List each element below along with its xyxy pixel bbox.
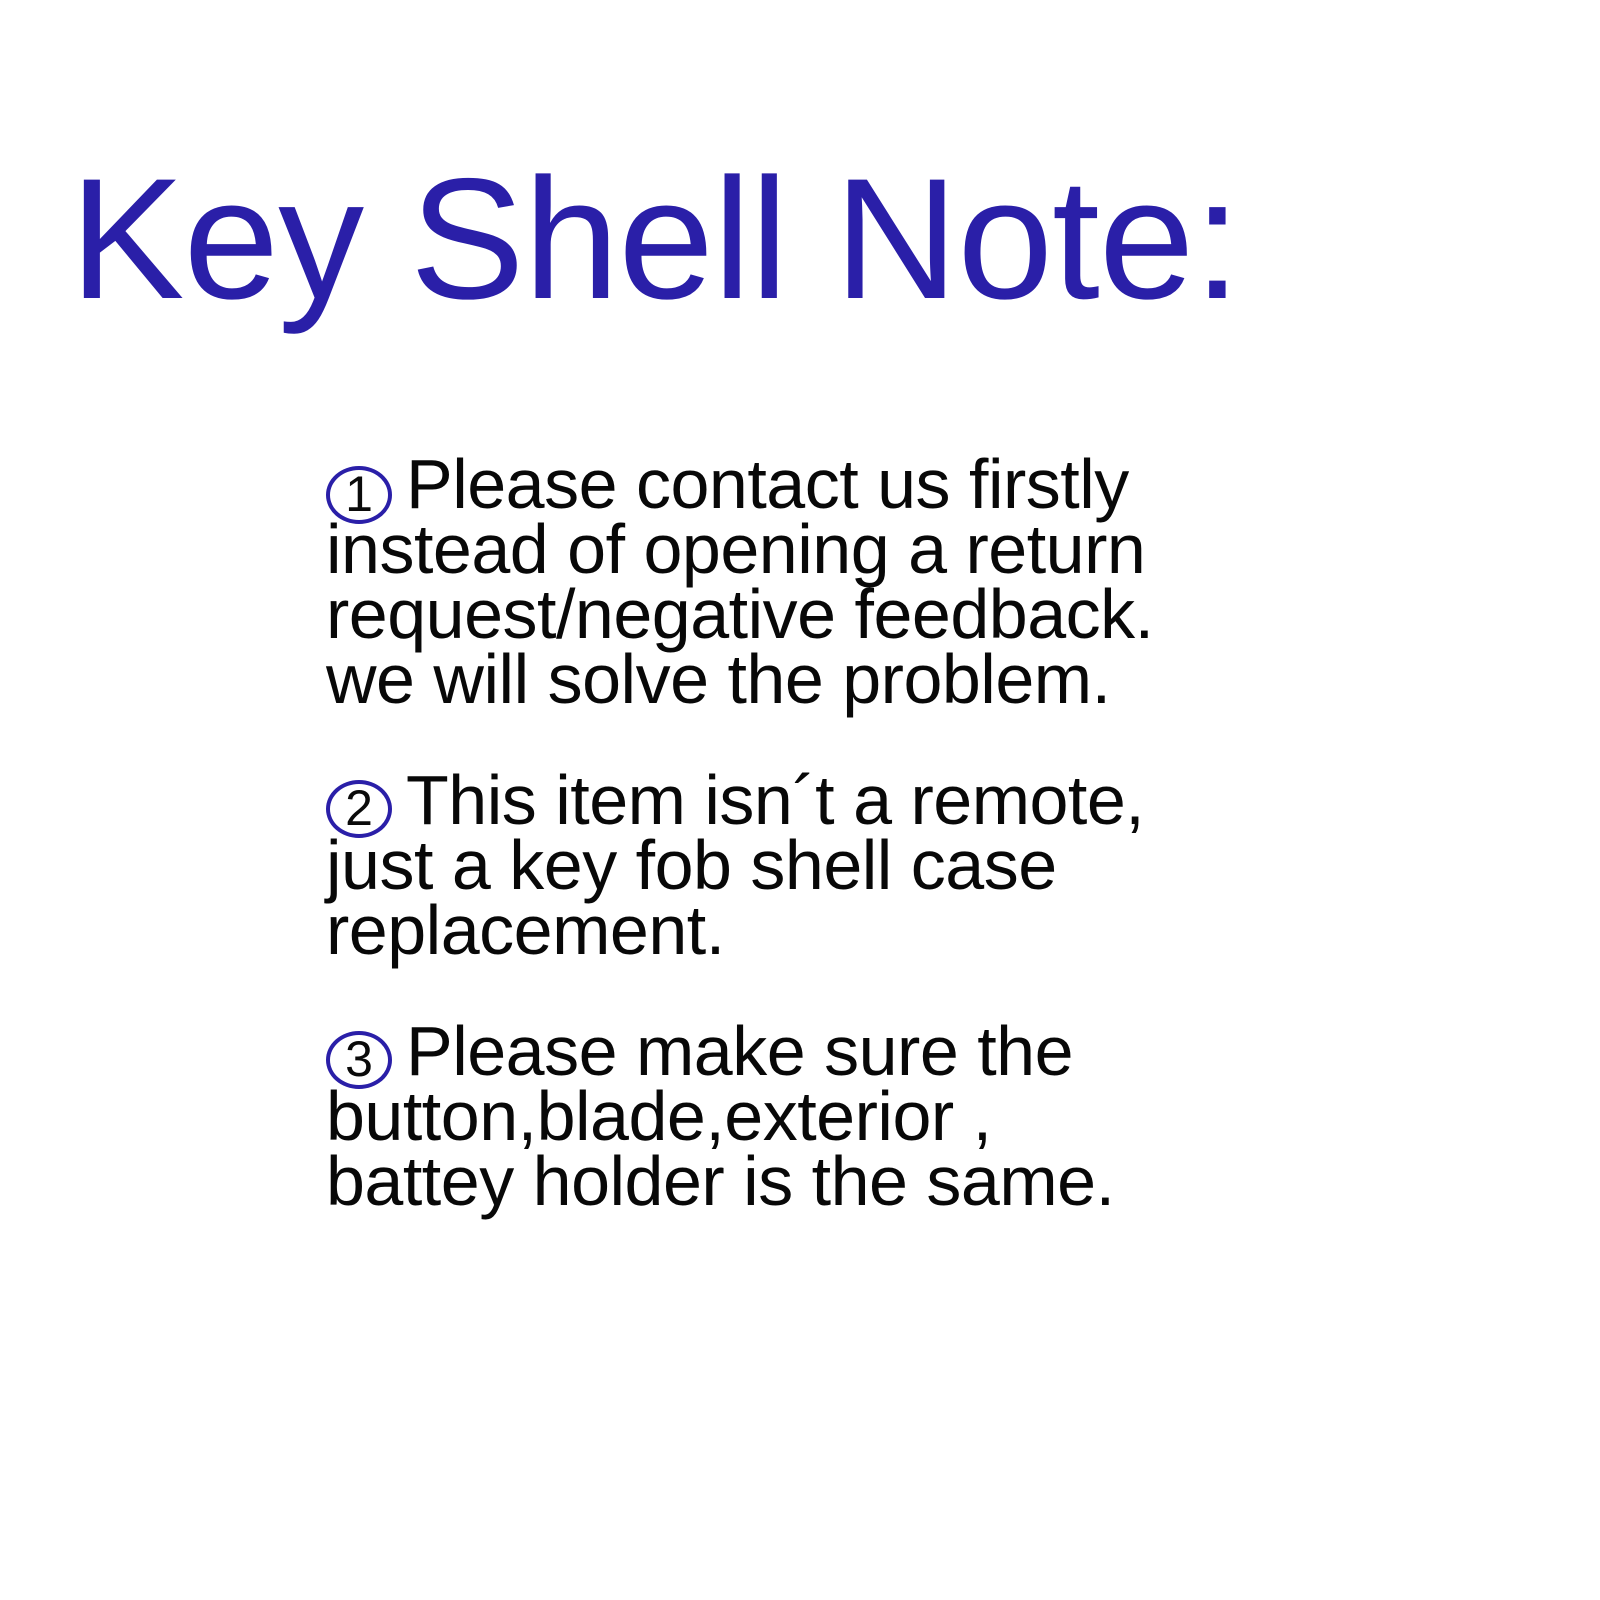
note-page: Key Shell Note: 1 Please contact us firs… <box>0 0 1600 1600</box>
note-paragraph-2: This item isn´t a remote, just a key fob… <box>326 768 1226 963</box>
circled-number-3-icon: 3 <box>326 1031 392 1089</box>
list-item: 3 Please make sure the button,blade,exte… <box>326 1019 1226 1214</box>
list-item: 2 This item isn´t a remote, just a key f… <box>326 768 1226 963</box>
note-list: 1 Please contact us firstly instead of o… <box>326 452 1226 1214</box>
page-title: Key Shell Note: <box>0 150 1600 328</box>
note-paragraph-3: Please make sure the button,blade,exteri… <box>326 1019 1226 1214</box>
circled-number-2-icon: 2 <box>326 780 392 838</box>
circled-number-1-icon: 1 <box>326 466 392 524</box>
list-item: 1 Please contact us firstly instead of o… <box>326 452 1226 712</box>
note-paragraph-1: Please contact us firstly instead of ope… <box>326 452 1226 712</box>
